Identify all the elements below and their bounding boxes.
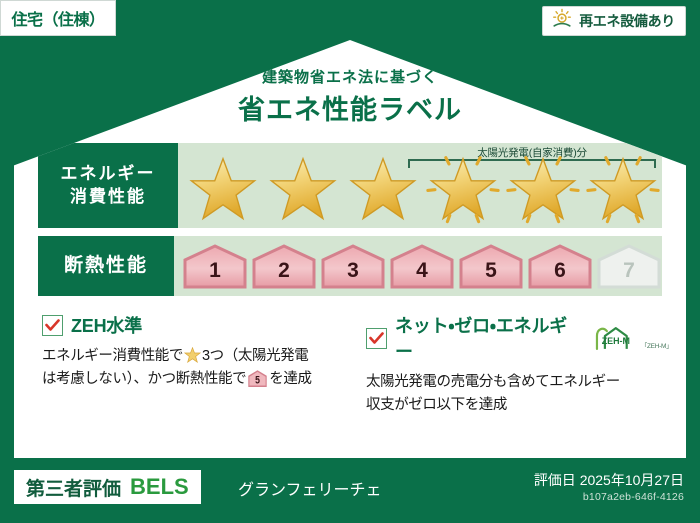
level-number: 7	[623, 259, 635, 289]
star-icon	[264, 153, 342, 225]
evaluation-id: b107a2eb-646f-4126	[583, 491, 684, 503]
bels-evaluation-badge: 第三者評価 BELS	[14, 470, 201, 504]
criterion-text-part1: エネルギー消費性能で	[42, 348, 183, 364]
criterion-title: ZEH水準	[71, 312, 142, 338]
star-icon	[344, 153, 422, 225]
star-icon-solar	[504, 153, 582, 225]
energy-performance-row: エネルギー 消費性能 太陽光発電(自家消費)分	[38, 143, 662, 228]
check-icon	[42, 315, 63, 336]
criterion-text-line2-part1: は考慮しない）、かつ断熱性能で	[42, 371, 246, 387]
criterion-description: 太陽光発電の売電分も含めてエネルギー 収支がゼロ以下を達成	[366, 371, 672, 418]
evaluation-date: 評価日 2025年10月27日	[534, 470, 684, 490]
energy-stars-area: 太陽光発電(自家消費)分	[178, 143, 662, 228]
svg-text:5: 5	[255, 375, 260, 387]
criterion-zeh-suijun: ZEH水準 エネルギー消費性能で3つ（太陽光発電 は考慮しない）、かつ断熱性能で…	[42, 312, 354, 392]
level-number: 2	[278, 259, 290, 289]
level-number: 6	[554, 259, 566, 289]
house-badge-icon: 1	[182, 243, 248, 289]
solar-sun-icon	[551, 8, 573, 35]
criterion-text-line2-part2: を達成	[269, 371, 311, 387]
house-badge-icon: 6	[527, 243, 593, 289]
building-type-tab: 住宅（住棟）	[0, 0, 116, 36]
energy-performance-label: エネルギー 消費性能	[38, 143, 178, 228]
page-title: 省エネ性能ラベル	[14, 88, 686, 127]
label-subtitle: 建築物省エネ法に基づく	[14, 66, 686, 87]
footer: 第三者評価 BELS グランフェリーチェ 評価日 2025年10月27日 b10…	[0, 460, 700, 523]
star-icon-inline	[184, 347, 201, 363]
level-number: 3	[347, 259, 359, 289]
zeh-m-logo-caption: 「ZEH-M」	[641, 340, 672, 351]
energy-label-line1: エネルギー	[61, 163, 156, 186]
criterion-text-line2: 収支がゼロ以下を達成	[366, 397, 507, 413]
building-name: グランフェリーチェ	[238, 476, 382, 500]
star-rating	[178, 153, 662, 225]
criterion-net-zero-energy: ネット・ゼロ・エネルギー ZEH-M 「ZEH-M」 太陽光発電の売電分も含めて…	[366, 312, 672, 418]
bels-label: BELS	[130, 474, 189, 500]
insulation-performance-row: 断熱性能 1	[38, 236, 662, 296]
star-icon-solar	[584, 153, 662, 225]
energy-label-line2: 消費性能	[70, 186, 146, 209]
house-badge-icon: 2	[251, 243, 317, 289]
house-badge-icon-inactive: 7	[596, 243, 662, 289]
renewable-badge-label: 再エネ設備あり	[579, 11, 675, 31]
check-icon	[366, 328, 387, 349]
third-party-label: 第三者評価	[26, 474, 121, 501]
level-number: 5	[485, 259, 497, 289]
criterion-text-line1: 太陽光発電の売電分も含めてエネルギー	[366, 374, 620, 390]
level-number: 4	[416, 259, 428, 289]
house-badge-icon: 4	[389, 243, 455, 289]
building-type-label: 住宅（住棟）	[11, 6, 104, 30]
svg-text:ZEH-M: ZEH-M	[602, 336, 630, 346]
insulation-level-scale: 1 2 3	[174, 243, 662, 289]
house-badge-icon: 3	[320, 243, 386, 289]
criterion-text-part2: 3つ（太陽光発電	[202, 348, 308, 364]
insulation-levels-area: 1 2 3	[174, 236, 662, 296]
criterion-description: エネルギー消費性能で3つ（太陽光発電 は考慮しない）、かつ断熱性能で5を達成	[42, 345, 354, 392]
house-badge-icon: 5	[458, 243, 524, 289]
level-number: 1	[209, 259, 221, 289]
insulation-performance-label: 断熱性能	[38, 236, 174, 296]
label-panel: 建築物省エネ法に基づく 省エネ性能ラベル エネルギー 消費性能 太陽光発電(自家…	[14, 40, 686, 458]
renewable-equipment-badge: 再エネ設備あり	[542, 6, 686, 36]
house-badge-icon-inline: 5	[248, 370, 267, 387]
star-icon-solar	[424, 153, 502, 225]
star-icon	[184, 153, 262, 225]
criterion-title: ネット・ゼロ・エネルギー	[395, 312, 583, 364]
zeh-m-logo-icon: ZEH-M 「ZEH-M」	[593, 325, 672, 351]
